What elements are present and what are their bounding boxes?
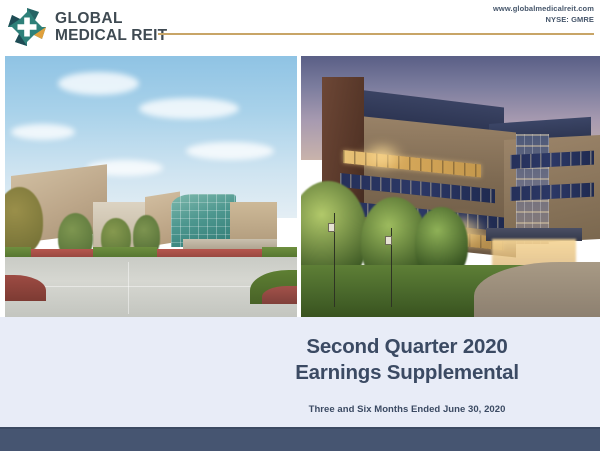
footer-bar xyxy=(0,427,600,451)
right-photo-site-sign xyxy=(385,236,392,245)
photo-daytime-stone-medical-office-building xyxy=(5,56,297,317)
logo-text-line-1: GLOBAL xyxy=(55,11,167,27)
stock-ticker-label: NYSE: GMRE xyxy=(493,15,594,26)
header-meta-block: www.globalmedicalreit.com NYSE: GMRE xyxy=(493,4,594,26)
left-photo-cloud xyxy=(11,124,75,140)
presentation-title-line-1: Second Quarter 2020 xyxy=(252,334,562,360)
right-photo-window-glow xyxy=(361,145,403,168)
title-block: Second Quarter 2020 Earnings Supplementa… xyxy=(252,334,562,415)
left-photo-cloud xyxy=(58,72,140,95)
medical-cross-pinwheel-logo-icon xyxy=(6,6,48,48)
hero-photo-band xyxy=(0,56,600,317)
logo-wordmark: GLOBAL MEDICAL REIT xyxy=(55,11,167,44)
company-website-link[interactable]: www.globalmedicalreit.com xyxy=(493,4,594,15)
title-panel: Second Quarter 2020 Earnings Supplementa… xyxy=(0,317,600,427)
company-logo[interactable]: GLOBAL MEDICAL REIT xyxy=(6,6,167,48)
left-photo-cloud xyxy=(139,98,238,119)
left-photo-pavement-seam xyxy=(128,262,129,314)
logo-text-line-2: MEDICAL REIT xyxy=(55,28,167,44)
header-divider-rule xyxy=(158,33,594,35)
presentation-period-subtitle: Three and Six Months Ended June 30, 2020 xyxy=(252,404,562,415)
page-header: GLOBAL MEDICAL REIT www.globalmedicalrei… xyxy=(0,0,600,54)
presentation-title-line-2: Earnings Supplemental xyxy=(252,360,562,386)
right-photo-site-sign xyxy=(328,223,335,232)
photo-dusk-brick-medical-building xyxy=(301,56,600,317)
